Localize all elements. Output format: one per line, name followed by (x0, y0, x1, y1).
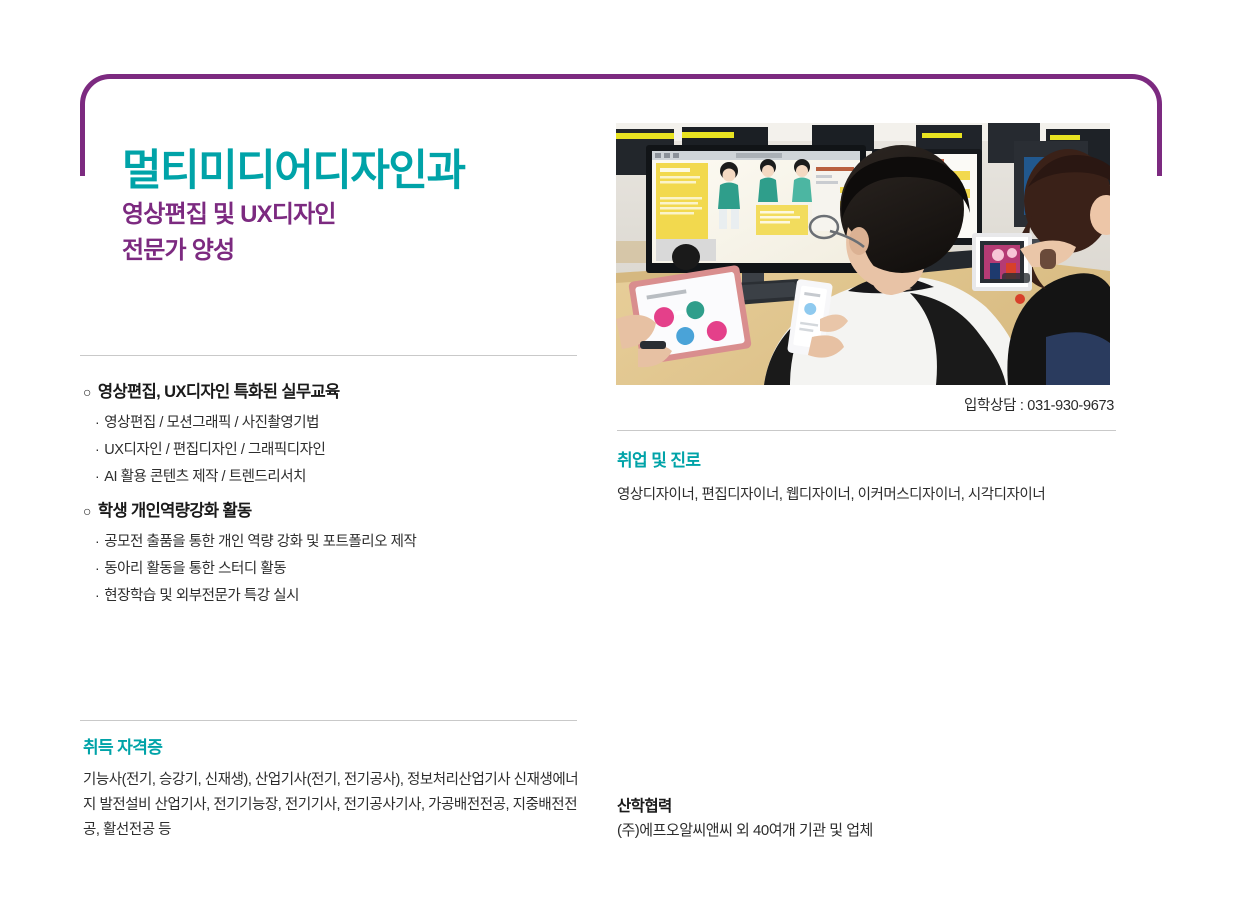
feature-item-list: · 공모전 출품을 통한 개인 역량 강화 및 포트폴리오 제작 · 동아리 활… (83, 529, 583, 609)
middot-bullet-icon: · (95, 556, 99, 581)
list-item-text: 동아리 활동을 통한 스터디 활동 (104, 557, 286, 583)
list-item: · 영상편집 / 모션그래픽 / 사진촬영기법 (83, 410, 583, 437)
feature-group-title-text: 학생 개인역량강화 활동 (98, 497, 252, 521)
cooperation-heading: 산학협력 (617, 794, 873, 816)
tagline-line-2: 전문가 양성 (122, 233, 336, 269)
list-item: · AI 활용 콘텐츠 제작 / 트렌드리서치 (83, 464, 583, 491)
divider-left-features (80, 355, 577, 356)
circle-bullet-icon: ○ (83, 503, 91, 519)
industry-cooperation-section: 산학협력 (주)에프오알씨앤씨 외 40여개 기관 및 업체 (617, 794, 873, 840)
cooperation-body: (주)에프오알씨앤씨 외 40여개 기관 및 업체 (617, 819, 873, 840)
admissions-contact: 입학상담 : 031-930-9673 (617, 394, 1114, 415)
middot-bullet-icon: · (95, 437, 99, 462)
middot-bullet-icon: · (95, 410, 99, 435)
middot-bullet-icon: · (95, 464, 99, 489)
certificates-section-heading: 취득 자격증 (83, 733, 162, 758)
department-photo (616, 123, 1110, 385)
tagline-line-1: 영상편집 및 UX디자인 (122, 197, 336, 233)
list-item: · 공모전 출품을 통한 개인 역량 강화 및 포트폴리오 제작 (83, 529, 583, 556)
career-section-body: 영상디자이너, 편집디자이너, 웹디자이너, 이커머스디자이너, 시각디자이너 (617, 483, 1117, 508)
page-title: 멀티미디어디자인과 (122, 148, 465, 195)
list-item-text: 공모전 출품을 통한 개인 역량 강화 및 포트폴리오 제작 (104, 530, 416, 556)
middot-bullet-icon: · (95, 583, 99, 608)
feature-group-student-capability: ○ 학생 개인역량강화 활동 · 공모전 출품을 통한 개인 역량 강화 및 포… (83, 497, 583, 609)
divider-left-certificates (80, 720, 577, 721)
divider-right-career (617, 430, 1116, 431)
feature-group-title: ○ 학생 개인역량강화 활동 (83, 497, 583, 521)
feature-group-title-text: 영상편집, UX디자인 특화된 실무교육 (98, 378, 340, 402)
list-item: · 동아리 활동을 통한 스터디 활동 (83, 556, 583, 583)
circle-bullet-icon: ○ (83, 384, 91, 400)
list-item: · 현장학습 및 외부전문가 특강 실시 (83, 583, 583, 610)
feature-item-list: · 영상편집 / 모션그래픽 / 사진촬영기법 · UX디자인 / 편집디자인 … (83, 410, 583, 490)
list-item: · UX디자인 / 편집디자인 / 그래픽디자인 (83, 437, 583, 464)
photo-illustration (616, 123, 1110, 385)
list-item-text: 영상편집 / 모션그래픽 / 사진촬영기법 (104, 411, 319, 437)
career-section-heading: 취업 및 진로 (617, 446, 700, 471)
feature-group-practical-education: ○ 영상편집, UX디자인 특화된 실무교육 · 영상편집 / 모션그래픽 / … (83, 378, 583, 490)
department-tagline: 영상편집 및 UX디자인 전문가 양성 (122, 197, 336, 270)
list-item-text: 현장학습 및 외부전문가 특강 실시 (104, 584, 299, 610)
certificates-section-body: 기능사(전기, 승강기, 신재생), 산업기사(전기, 전기공사), 정보처리산… (83, 768, 583, 843)
list-item-text: UX디자인 / 편집디자인 / 그래픽디자인 (104, 438, 325, 464)
feature-group-title: ○ 영상편집, UX디자인 특화된 실무교육 (83, 378, 583, 402)
list-item-text: AI 활용 콘텐츠 제작 / 트렌드리서치 (104, 465, 306, 491)
middot-bullet-icon: · (95, 529, 99, 554)
